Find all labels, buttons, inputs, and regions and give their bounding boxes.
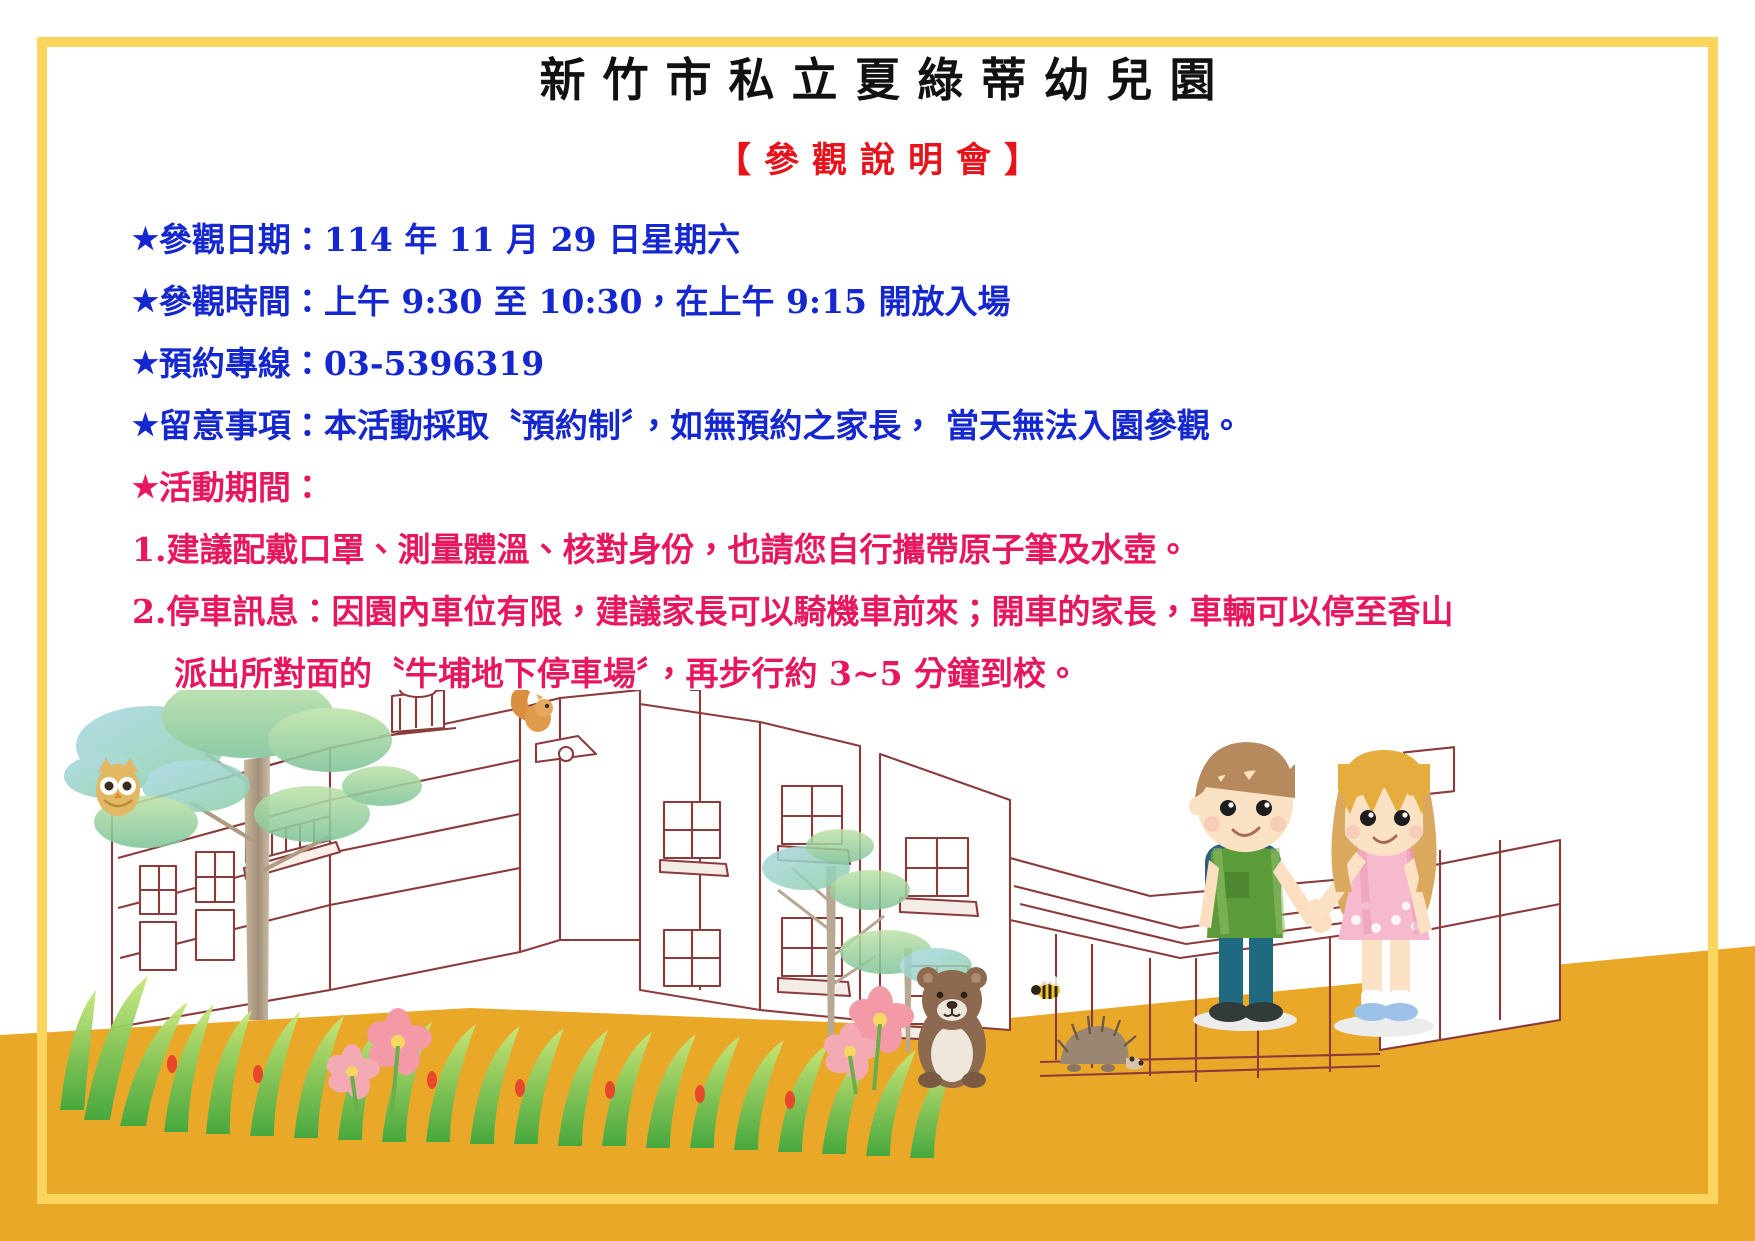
bullet-event-period: ★活動期間： <box>132 457 1715 519</box>
star-icon: ★ <box>132 284 159 319</box>
numbered-item-2: 2.停車訊息：因園內車位有限，建議家長可以騎機車前來；開車的家長，車輛可以停至香… <box>132 581 1715 643</box>
info-lines: ★參觀日期：114 年 11 月 29 日星期六 ★參觀時間：上午 9:30 至… <box>0 209 1755 705</box>
bullet-notice-text: 留意事項：本活動採取〝預約制〞，如無預約之家長， 當天無法入園參觀。 <box>159 406 1243 445</box>
bullet-visit-date-text: 參觀日期：114 年 11 月 29 日星期六 <box>159 220 740 259</box>
page-subtitle: 【參觀說明會】 <box>0 132 1755 183</box>
bullet-visit-date: ★參觀日期：114 年 11 月 29 日星期六 <box>132 209 1715 271</box>
star-icon: ★ <box>132 346 159 381</box>
star-icon: ★ <box>132 470 159 505</box>
page-title: 新竹市私立夏綠蒂幼兒園 <box>0 44 1755 110</box>
bee <box>1031 971 1062 999</box>
numbered-item-2-text: 停車訊息：因園內車位有限，建議家長可以騎機車前來；開車的家長，車輛可以停至香山 <box>166 592 1453 631</box>
numbered-item-1: 1.建議配戴口罩、測量體溫、核對身份，也請您自行攜帶原子筆及水壺。 <box>132 519 1715 581</box>
poster-content: 新竹市私立夏綠蒂幼兒園 【參觀說明會】 ★參觀日期：114 年 11 月 29 … <box>0 0 1755 705</box>
bullet-visit-time: ★參觀時間：上午 9:30 至 10:30，在上午 9:15 開放入場 <box>132 271 1715 333</box>
poster-canvas: 新竹市私立夏綠蒂幼兒園 【參觀說明會】 ★參觀日期：114 年 11 月 29 … <box>0 0 1755 1241</box>
star-icon: ★ <box>132 222 159 257</box>
owl <box>96 758 140 816</box>
illustration <box>0 690 1755 1241</box>
bear <box>917 967 987 1088</box>
star-icon: ★ <box>132 408 159 443</box>
numbered-item-1-text: 建議配戴口罩、測量體溫、核對身份，也請您自行攜帶原子筆及水壺。 <box>166 530 1189 569</box>
bullet-event-period-text: 活動期間： <box>159 468 324 507</box>
bullet-booking-phone-text: 預約專線：03-5396319 <box>159 344 544 383</box>
bullet-notice: ★留意事項：本活動採取〝預約制〞，如無預約之家長， 當天無法入園參觀。 <box>132 395 1715 457</box>
numbered-item-2-number: 2. <box>132 592 166 631</box>
bullet-booking-phone: ★預約專線：03-5396319 <box>132 333 1715 395</box>
numbered-item-2-continued: 派出所對面的〝牛埔地下停車場〞，再步行約 3~5 分鐘到校。 <box>132 643 1715 705</box>
bullet-visit-time-text: 參觀時間：上午 9:30 至 10:30，在上午 9:15 開放入場 <box>159 282 1011 321</box>
numbered-item-2-continued-text: 派出所對面的〝牛埔地下停車場〞，再步行約 3~5 分鐘到校。 <box>174 654 1079 693</box>
numbered-item-1-number: 1. <box>132 530 166 569</box>
